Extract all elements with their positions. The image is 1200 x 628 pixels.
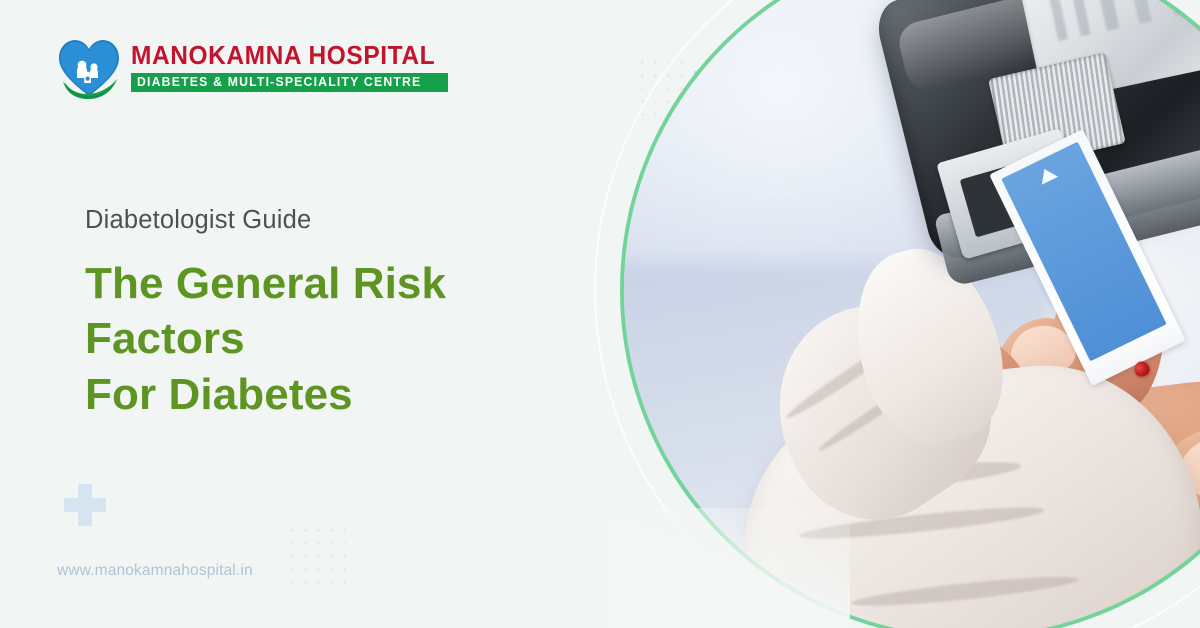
page-title: The General Risk Factors For Diabetes xyxy=(85,256,615,422)
page-title-line-1: The General Risk Factors xyxy=(85,256,615,367)
marketing-banner: MANOKAMNA HOSPITAL DIABETES & MULTI-SPEC… xyxy=(0,0,1200,628)
hospital-logo[interactable]: MANOKAMNA HOSPITAL DIABETES & MULTI-SPEC… xyxy=(56,34,448,102)
eyebrow-text: Diabetologist Guide xyxy=(85,206,615,234)
photo-clip xyxy=(624,0,1200,628)
heart-family-hand-logo-icon xyxy=(56,34,122,102)
headline-block: Diabetologist Guide The General Risk Fac… xyxy=(85,206,615,422)
dot-grid-pattern-bottom xyxy=(286,524,346,586)
glucose-test-photo xyxy=(624,0,1200,628)
logo-hospital-name: MANOKAMNA HOSPITAL xyxy=(131,44,435,70)
glove-wrinkle xyxy=(851,571,1080,611)
medical-cross-icon-bottom xyxy=(64,484,106,526)
logo-wordmark: MANOKAMNA HOSPITAL DIABETES & MULTI-SPEC… xyxy=(131,44,448,92)
website-url[interactable]: www.manokamnahospital.in xyxy=(57,562,253,580)
logo-tagline-band: DIABETES & MULTI-SPECIALITY CENTRE xyxy=(131,73,448,92)
page-title-line-2: For Diabetes xyxy=(85,367,615,422)
logo-tagline: DIABETES & MULTI-SPECIALITY CENTRE xyxy=(137,76,434,89)
hero-photo-medallion xyxy=(620,0,1200,628)
